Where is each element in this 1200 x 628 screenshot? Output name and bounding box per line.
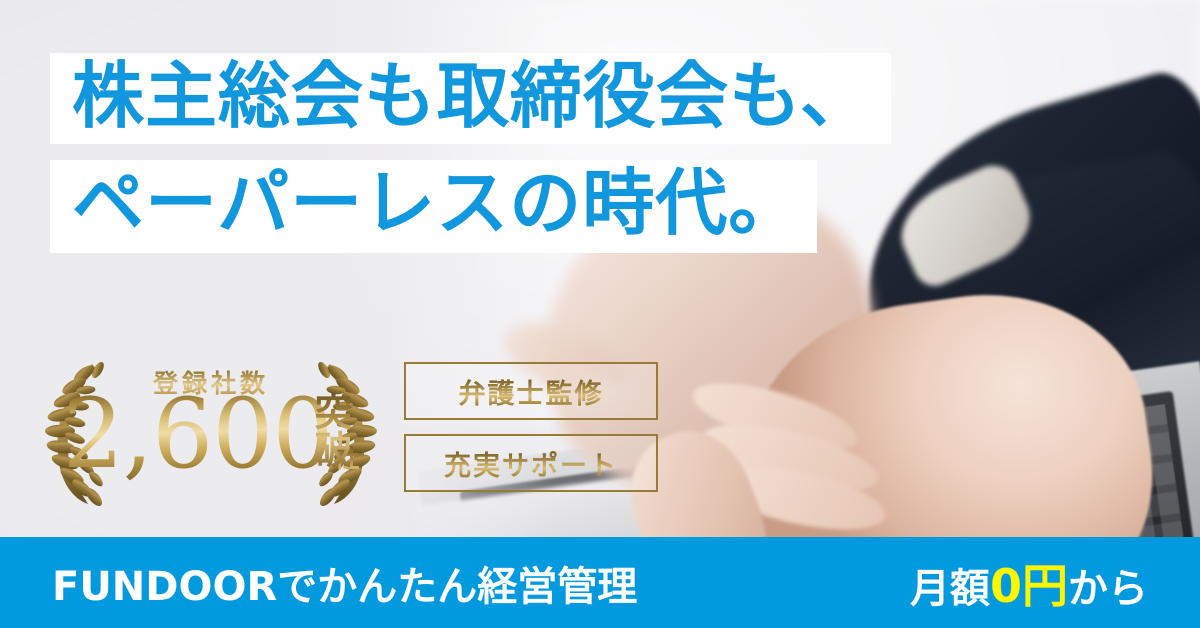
bottom-bar-tagline: FUNDOORでかんたん経営管理 <box>52 554 637 612</box>
badge-suffix: 突破 <box>310 392 350 468</box>
registration-count-badge: 登録社数 2,600 社 突破 <box>26 356 396 506</box>
feature-box-label: 弁護士監修 <box>459 372 604 411</box>
badge-number: 2,600 <box>63 386 333 482</box>
headline-line-1-wrap: 株主総会も取締役会も、 <box>50 53 891 144</box>
headline-line-1: 株主総会も取締役会も、 <box>72 59 873 134</box>
badge-text-group: 登録社数 2,600 社 突破 <box>26 356 396 506</box>
bottom-cta-bar: FUNDOORでかんたん経営管理 月額0円から <box>0 537 1200 628</box>
feature-box-lawyer-supervised[interactable]: 弁護士監修 <box>404 362 658 420</box>
headline: 株主総会も取締役会も、 ペーパーレスの時代。 <box>50 53 891 253</box>
price-value: 0円 <box>990 559 1068 613</box>
headline-line-1-box: 株主総会も取締役会も、 <box>50 53 891 144</box>
bottom-bar-price: 月額0円から <box>910 550 1148 616</box>
feature-box-full-support[interactable]: 充実サポート <box>404 434 658 492</box>
headline-line-2-box: ペーパーレスの時代。 <box>50 160 817 253</box>
headline-line-2-wrap: ペーパーレスの時代。 <box>50 160 891 253</box>
price-suffix: から <box>1068 566 1148 612</box>
headline-line-2: ペーパーレスの時代。 <box>72 166 801 241</box>
feature-box-group: 弁護士監修 充実サポート <box>404 362 658 506</box>
promo-banner: 株主総会も取締役会も、 ペーパーレスの時代。 <box>0 0 1200 628</box>
price-prefix: 月額 <box>910 566 990 612</box>
feature-box-label: 充実サポート <box>444 444 618 483</box>
